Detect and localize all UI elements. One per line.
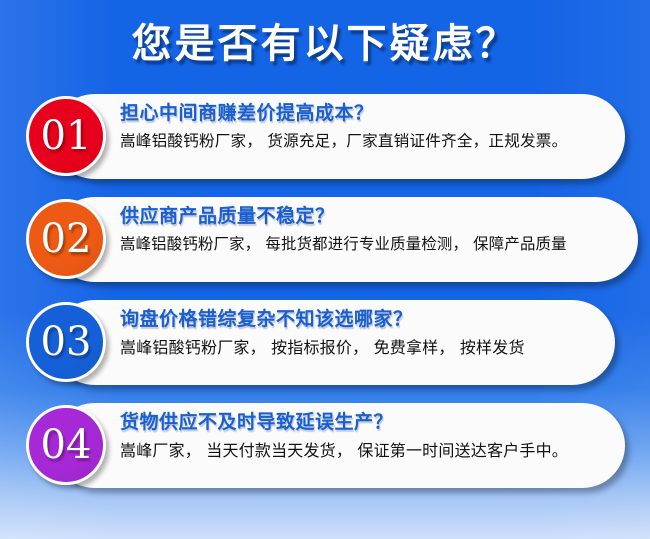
- page-title: 您是否有以下疑虑？: [0, 24, 650, 64]
- list-item: 03 询盘价格错综复杂不知该选哪家？ 嵩峰铝酸钙粉厂家， 按指标报价， 免费拿样…: [0, 300, 650, 385]
- item-heading: 货物供应不及时导致延误生产？: [120, 412, 636, 434]
- card-text-block: 货物供应不及时导致延误生产？ 嵩峰厂家， 当天付款当天发货， 保证第一时间送达客…: [120, 412, 636, 460]
- card-text-block: 供应商产品质量不稳定？ 嵩峰铝酸钙粉厂家， 每批货都进行专业质量检测， 保障产品…: [120, 206, 636, 253]
- number-badge-03: 03: [26, 302, 106, 382]
- faq-list: 01 担心中间商赚差价提高成本？ 嵩峰铝酸钙粉厂家， 货源充足，厂家直销证件齐全…: [0, 94, 650, 506]
- item-body: 嵩峰铝酸钙粉厂家， 每批货都进行专业质量检测， 保障产品质量: [120, 235, 636, 253]
- list-item: 04 货物供应不及时导致延误生产？ 嵩峰厂家， 当天付款当天发货， 保证第一时间…: [0, 403, 650, 488]
- badge-number-label: 01: [41, 116, 92, 156]
- item-body: 嵩峰厂家， 当天付款当天发货， 保证第一时间送达客户手中。: [120, 441, 636, 460]
- number-badge-01: 01: [26, 96, 106, 176]
- item-body: 嵩峰铝酸钙粉厂家， 货源充足，厂家直销证件齐全，正规发票。: [120, 132, 636, 151]
- item-body: 嵩峰铝酸钙粉厂家， 按指标报价， 免费拿样， 按样发货: [120, 338, 636, 357]
- number-badge-02: 02: [26, 199, 106, 279]
- badge-number-label: 02: [41, 219, 92, 259]
- list-item: 02 供应商产品质量不稳定？ 嵩峰铝酸钙粉厂家， 每批货都进行专业质量检测， 保…: [0, 197, 650, 282]
- card-text-block: 询盘价格错综复杂不知该选哪家？ 嵩峰铝酸钙粉厂家， 按指标报价， 免费拿样， 按…: [120, 309, 636, 357]
- list-item: 01 担心中间商赚差价提高成本？ 嵩峰铝酸钙粉厂家， 货源充足，厂家直销证件齐全…: [0, 94, 650, 179]
- item-heading: 供应商产品质量不稳定？: [120, 206, 636, 228]
- item-heading: 询盘价格错综复杂不知该选哪家？: [120, 309, 636, 331]
- card-text-block: 担心中间商赚差价提高成本？ 嵩峰铝酸钙粉厂家， 货源充足，厂家直销证件齐全，正规…: [120, 103, 636, 151]
- badge-number-label: 03: [41, 322, 92, 362]
- number-badge-04: 04: [26, 405, 106, 485]
- badge-number-label: 04: [41, 425, 92, 465]
- item-heading: 担心中间商赚差价提高成本？: [120, 103, 636, 125]
- promo-poster: 您是否有以下疑虑？ 01 担心中间商赚差价提高成本？ 嵩峰铝酸钙粉厂家， 货源充…: [0, 0, 650, 539]
